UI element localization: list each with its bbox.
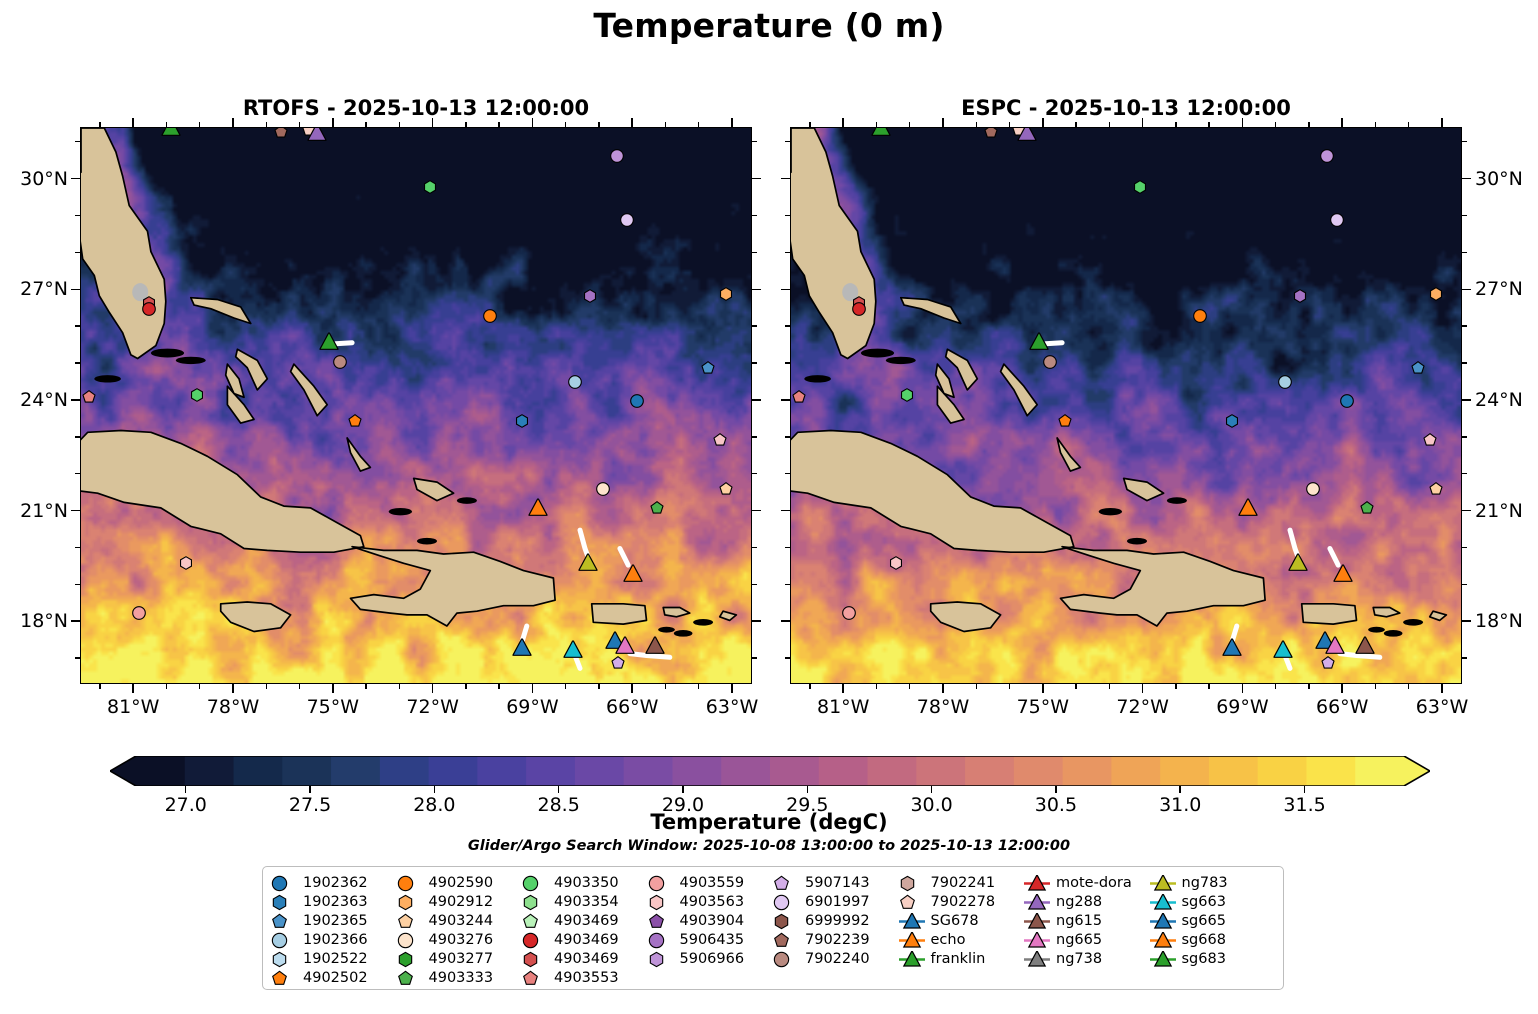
x-tick <box>1341 118 1343 127</box>
map-marker-4903276[interactable] <box>1306 482 1321 501</box>
coastlines-rtofs <box>81 128 752 684</box>
map-marker-echo[interactable] <box>529 498 548 521</box>
x-tick <box>1441 684 1443 693</box>
legend-marker-icon <box>899 913 925 930</box>
x-minor-tick <box>1009 122 1010 127</box>
legend-item-label: sg665 <box>1182 913 1226 930</box>
legend-marker-icon <box>397 913 423 930</box>
x-tick <box>1142 684 1144 693</box>
legend-marker-icon <box>271 951 297 968</box>
map-marker-4902912[interactable] <box>719 286 734 305</box>
y-minor-tick <box>75 436 80 437</box>
x-minor-tick <box>809 122 810 127</box>
colorbar-tick <box>434 786 436 793</box>
x-minor-tick <box>1175 122 1176 127</box>
legend-item-label: 5906966 <box>680 951 745 968</box>
x-tick <box>1441 118 1443 127</box>
y-tick <box>752 510 761 512</box>
legend-item-mote-dora[interactable]: mote-dora <box>1024 874 1150 893</box>
x-tick <box>1142 118 1144 127</box>
legend-item-label: 4903469 <box>554 932 619 949</box>
map-marker-franklin[interactable] <box>871 127 890 141</box>
x-minor-tick <box>1208 122 1209 127</box>
x-tick-label: 63°W <box>706 696 758 718</box>
y-minor-tick <box>75 141 80 142</box>
legend-item-label: 5907143 <box>805 875 870 892</box>
x-minor-tick <box>399 122 400 127</box>
legend-item-sg665[interactable]: sg665 <box>1150 912 1276 931</box>
map-marker-7902240[interactable] <box>1043 355 1058 374</box>
legend-marker-icon <box>648 875 674 892</box>
legend-item-6999992[interactable]: 6999992 <box>773 912 899 931</box>
legend-item-label: 4902912 <box>429 894 494 911</box>
legend-item-label: 4903469 <box>554 913 619 930</box>
y-tick <box>781 620 790 622</box>
legend-item-label: 4903350 <box>554 875 619 892</box>
y-minor-tick <box>785 362 790 363</box>
map-marker-7902239[interactable] <box>273 127 288 143</box>
legend-item-SG678[interactable]: SG678 <box>899 912 1025 931</box>
legend-item-7902241[interactable]: 7902241 <box>899 874 1025 893</box>
y-tick <box>71 178 80 180</box>
map-marker-4902590[interactable] <box>1193 308 1208 327</box>
colorbar-tick <box>807 786 809 793</box>
map-marker-sg683[interactable] <box>319 332 338 355</box>
legend-item-4903904[interactable]: 4903904 <box>648 912 774 931</box>
y-minor-tick <box>1462 436 1467 437</box>
x-minor-tick <box>598 684 599 689</box>
legend-item-label: 6901997 <box>805 894 870 911</box>
map-marker-5907143[interactable] <box>611 655 626 674</box>
x-minor-tick <box>1208 684 1209 689</box>
y-tick <box>752 399 761 401</box>
legend-item-7902240[interactable]: 7902240 <box>773 950 899 969</box>
legend-marker-icon <box>397 894 423 911</box>
y-minor-tick <box>75 215 80 216</box>
legend-item-label: ng738 <box>1056 951 1102 968</box>
legend-item-4903276[interactable]: 4903276 <box>397 931 523 950</box>
colorbar-tick <box>1179 786 1181 793</box>
x-tick <box>842 684 844 693</box>
map-marker-4903354[interactable] <box>649 500 664 519</box>
x-minor-tick <box>976 122 977 127</box>
legend-item-label: ng665 <box>1056 932 1102 949</box>
x-minor-tick <box>1075 684 1076 689</box>
legend-item-sg683[interactable]: sg683 <box>1150 950 1276 969</box>
legend-item-5906966[interactable]: 5906966 <box>648 950 774 969</box>
legend-item-label: echo <box>931 932 966 949</box>
map-marker-sg663[interactable] <box>564 640 583 663</box>
x-minor-tick <box>598 122 599 127</box>
legend-item-1902362[interactable]: 1902362 <box>271 874 397 893</box>
x-tick-label: 78°W <box>207 696 259 718</box>
map-panel-rtofs[interactable] <box>80 127 752 684</box>
map-marker-4903469b[interactable] <box>142 301 157 320</box>
legend-marker-icon <box>1024 932 1050 949</box>
x-minor-tick <box>166 122 167 127</box>
legend-item-label: 7902241 <box>931 875 996 892</box>
map-marker-5906435[interactable] <box>582 288 597 307</box>
x-tick-label: 72°W <box>406 696 458 718</box>
map-marker-4902502[interactable] <box>348 414 363 433</box>
map-marker-4903563b[interactable] <box>712 432 727 451</box>
x-minor-tick <box>698 122 699 127</box>
legend-item-4903350[interactable]: 4903350 <box>522 874 648 893</box>
legend-item-1902522[interactable]: 1902522 <box>271 950 397 969</box>
y-minor-tick <box>752 473 757 474</box>
x-tick <box>1341 684 1343 693</box>
y-minor-tick <box>785 473 790 474</box>
legend-item-label: ng615 <box>1056 913 1102 930</box>
x-minor-tick <box>465 684 466 689</box>
y-minor-tick <box>752 215 757 216</box>
legend-item-1902365[interactable]: 1902365 <box>271 912 397 931</box>
map-marker-4903276[interactable] <box>596 482 611 501</box>
y-tick <box>781 289 790 291</box>
legend-marker-icon <box>648 932 674 949</box>
x-tick <box>332 684 334 693</box>
x-minor-tick <box>1308 122 1309 127</box>
legend-marker-icon <box>1024 913 1050 930</box>
x-tick <box>432 118 434 127</box>
map-marker-sg683[interactable] <box>1029 332 1048 355</box>
x-minor-tick <box>1375 684 1376 689</box>
legend-item-label: 4903277 <box>429 951 494 968</box>
map-marker-1902363[interactable] <box>514 414 529 433</box>
map-marker-4902590[interactable] <box>483 308 498 327</box>
legend-item-5907143[interactable]: 5907143 <box>773 874 899 893</box>
map-marker-4903563[interactable] <box>888 556 903 575</box>
x-minor-tick <box>365 122 366 127</box>
map-marker-sg663[interactable] <box>1274 640 1293 663</box>
map-marker-4903559[interactable] <box>842 605 857 624</box>
y-tick <box>71 620 80 622</box>
y-minor-tick <box>752 141 757 142</box>
y-minor-tick <box>1462 252 1467 253</box>
colorbar[interactable]: 27.027.528.028.529.029.530.030.531.031.5 <box>110 756 1430 786</box>
x-tick <box>132 684 134 693</box>
legend-item-4902590[interactable]: 4902590 <box>397 874 523 893</box>
legend-item-1902366[interactable]: 1902366 <box>271 931 397 950</box>
map-marker-5906966[interactable] <box>609 148 624 167</box>
map-marker-6901997[interactable] <box>619 213 634 232</box>
y-tick <box>1462 178 1471 180</box>
y-tick <box>752 620 761 622</box>
y-minor-tick <box>785 584 790 585</box>
legend-item-4902912[interactable]: 4902912 <box>397 893 523 912</box>
x-minor-tick <box>909 122 910 127</box>
legend-marker-icon <box>773 894 799 911</box>
legend-marker-icon <box>1024 894 1050 911</box>
map-marker-4903563[interactable] <box>178 556 193 575</box>
x-minor-tick <box>365 684 366 689</box>
y-minor-tick <box>785 141 790 142</box>
map-marker-ng288[interactable] <box>308 127 327 147</box>
map-marker-1902362[interactable] <box>1339 393 1354 412</box>
map-marker-7902239[interactable] <box>983 127 998 143</box>
legend-item-label: 1902362 <box>303 875 368 892</box>
map-marker-4903559[interactable] <box>132 605 147 624</box>
y-minor-tick <box>75 325 80 326</box>
map-marker-4903244[interactable] <box>1429 482 1444 501</box>
x-minor-tick <box>1009 684 1010 689</box>
legend-marker-icon <box>773 913 799 930</box>
x-tick <box>232 684 234 693</box>
map-marker-6901997[interactable] <box>1329 213 1344 232</box>
legend-item-4903277[interactable]: 4903277 <box>397 950 523 969</box>
legend-item-label: 4903276 <box>429 932 494 949</box>
map-marker-franklin[interactable] <box>161 127 180 141</box>
legend-item-label: 6999992 <box>805 913 870 930</box>
legend-marker-icon <box>773 951 799 968</box>
y-tick <box>781 178 790 180</box>
map-marker-4903553[interactable] <box>792 390 807 409</box>
y-minor-tick <box>752 436 757 437</box>
legend-item-4903553[interactable]: 4903553 <box>522 969 648 988</box>
legend-marker-icon <box>397 951 423 968</box>
map-marker-5906966[interactable] <box>1319 148 1334 167</box>
legend-item-echo[interactable]: echo <box>899 931 1025 950</box>
legend-marker-icon <box>522 970 548 987</box>
map-marker-7902240[interactable] <box>333 355 348 374</box>
map-marker-sg665[interactable] <box>512 638 531 661</box>
legend-item-ng783[interactable]: ng783 <box>1150 874 1276 893</box>
legend-item-7902278[interactable]: 7902278 <box>899 893 1025 912</box>
map-marker-4902912[interactable] <box>1429 286 1444 305</box>
legend-marker-icon <box>1150 894 1176 911</box>
y-minor-tick <box>785 325 790 326</box>
map-marker-ng783[interactable] <box>579 554 598 577</box>
legend-item-label: 7902239 <box>805 932 870 949</box>
legend-item-label: 4902590 <box>429 875 494 892</box>
legend-item-4903333[interactable]: 4903333 <box>397 969 523 988</box>
map-marker-1902365[interactable] <box>1411 360 1426 379</box>
x-minor-tick <box>909 684 910 689</box>
y-tick-label-right: 21°N <box>1475 500 1523 522</box>
legend-item-ng665[interactable]: ng665 <box>1024 931 1150 950</box>
legend-box: 1902362490259049033504903559590714379022… <box>262 866 1284 990</box>
y-minor-tick <box>752 547 757 548</box>
x-minor-tick <box>1109 684 1110 689</box>
map-marker-5906435[interactable] <box>1292 288 1307 307</box>
map-marker-5907143[interactable] <box>1321 655 1336 674</box>
coastlines-espc <box>791 128 1462 684</box>
y-minor-tick <box>1462 362 1467 363</box>
legend-marker-icon <box>1024 875 1050 892</box>
legend-item-4903354[interactable]: 4903354 <box>522 893 648 912</box>
x-minor-tick <box>809 684 810 689</box>
y-minor-tick <box>1462 473 1467 474</box>
legend-marker-icon <box>522 913 548 930</box>
map-marker-sg668[interactable] <box>1334 565 1353 588</box>
y-minor-tick <box>1462 141 1467 142</box>
x-tick <box>631 684 633 693</box>
legend-item-5906435[interactable]: 5906435 <box>648 931 774 950</box>
legend-item-label: 4903244 <box>429 913 494 930</box>
y-minor-tick <box>785 436 790 437</box>
map-marker-4903553[interactable] <box>82 390 97 409</box>
y-tick <box>1462 399 1471 401</box>
x-tick-label: 69°W <box>506 696 558 718</box>
legend-item-label: 7902240 <box>805 951 870 968</box>
map-marker-1902365[interactable] <box>701 360 716 379</box>
legend-item-ng615[interactable]: ng615 <box>1024 912 1150 931</box>
x-tick-label: 81°W <box>107 696 159 718</box>
legend-marker-icon <box>1150 932 1176 949</box>
colorbar-tick <box>558 786 560 793</box>
legend-item-label: 1902363 <box>303 894 368 911</box>
map-marker-echo[interactable] <box>1239 498 1258 521</box>
y-tick-label-right: 27°N <box>1475 278 1523 300</box>
x-tick-label: 72°W <box>1116 696 1168 718</box>
x-minor-tick <box>665 122 666 127</box>
y-minor-tick <box>75 473 80 474</box>
y-minor-tick <box>75 252 80 253</box>
legend-item-label: sg663 <box>1182 894 1226 911</box>
y-tick-label-left: 27°N <box>0 278 68 300</box>
y-minor-tick <box>752 584 757 585</box>
legend-grid: 1902362490259049033504903559590714379022… <box>271 874 1275 988</box>
legend-item-franklin[interactable]: franklin <box>899 950 1025 969</box>
legend-item-sg663[interactable]: sg663 <box>1150 893 1276 912</box>
x-tick <box>432 684 434 693</box>
map-marker-4903350[interactable] <box>423 179 438 198</box>
legend-item-7902239[interactable]: 7902239 <box>773 931 899 950</box>
legend-marker-icon <box>899 932 925 949</box>
x-tick <box>942 684 944 693</box>
legend-item-1902363[interactable]: 1902363 <box>271 893 397 912</box>
x-tick <box>631 118 633 127</box>
legend-marker-icon <box>648 951 674 968</box>
y-minor-tick <box>75 547 80 548</box>
y-minor-tick <box>1462 657 1467 658</box>
panel-title-espc: ESPC - 2025-10-13 12:00:00 <box>790 96 1462 120</box>
map-marker-1902362[interactable] <box>629 393 644 412</box>
map-marker-4903469b[interactable] <box>852 301 867 320</box>
y-tick <box>781 510 790 512</box>
y-tick <box>752 289 761 291</box>
legend-marker-icon <box>899 875 925 892</box>
x-minor-tick <box>565 684 566 689</box>
legend-item-label: sg683 <box>1182 951 1226 968</box>
y-minor-tick <box>785 657 790 658</box>
legend-item-4903469[interactable]: 4903469 <box>522 912 648 931</box>
map-marker-4903350b[interactable] <box>900 388 915 407</box>
legend-item-4903559[interactable]: 4903559 <box>648 874 774 893</box>
map-marker-1902366[interactable] <box>568 375 583 394</box>
map-marker-ng783[interactable] <box>1289 554 1308 577</box>
legend-item-ng738[interactable]: ng738 <box>1024 950 1150 969</box>
map-marker-ng615[interactable] <box>645 637 664 660</box>
legend-item-label: 4903904 <box>680 913 745 930</box>
legend-item-label: 4903333 <box>429 970 494 987</box>
legend-marker-icon <box>1150 951 1176 968</box>
map-marker-1902363[interactable] <box>1224 414 1239 433</box>
x-tick-label: 78°W <box>917 696 969 718</box>
map-marker-4903563b[interactable] <box>1422 432 1437 451</box>
x-tick <box>731 118 733 127</box>
legend-marker-icon <box>271 913 297 930</box>
x-minor-tick <box>1308 684 1309 689</box>
legend-marker-icon <box>397 970 423 987</box>
map-marker-ng288[interactable] <box>1018 127 1037 147</box>
legend-item-label: mote-dora <box>1056 875 1132 892</box>
map-marker-1902366[interactable] <box>1278 375 1293 394</box>
x-minor-tick <box>99 122 100 127</box>
y-minor-tick <box>752 325 757 326</box>
map-marker-4903350b[interactable] <box>190 388 205 407</box>
legend-marker-icon <box>522 894 548 911</box>
legend-item-6901997[interactable]: 6901997 <box>773 893 899 912</box>
legend-item-4903469[interactable]: 4903469 <box>522 950 648 969</box>
legend-marker-icon <box>899 894 925 911</box>
x-tick-label: 75°W <box>307 696 359 718</box>
legend-marker-icon <box>1150 913 1176 930</box>
y-tick-label-right: 30°N <box>1475 168 1523 190</box>
colorbar-tick <box>185 786 187 793</box>
y-tick <box>752 178 761 180</box>
y-minor-tick <box>1462 547 1467 548</box>
legend-marker-icon <box>522 951 548 968</box>
x-minor-tick <box>1075 122 1076 127</box>
legend-marker-icon <box>773 875 799 892</box>
x-minor-tick <box>199 122 200 127</box>
map-marker-4903354[interactable] <box>1359 500 1374 519</box>
legend-item-label: ng288 <box>1056 894 1102 911</box>
legend-item-label: 7902278 <box>931 894 996 911</box>
map-marker-sg668[interactable] <box>624 565 643 588</box>
y-tick-label-right: 18°N <box>1475 610 1523 632</box>
x-tick <box>1042 684 1044 693</box>
y-minor-tick <box>1462 215 1467 216</box>
map-marker-4903244[interactable] <box>719 482 734 501</box>
legend-item-label: ng783 <box>1182 875 1228 892</box>
x-minor-tick <box>299 684 300 689</box>
y-minor-tick <box>1462 584 1467 585</box>
legend-item-4903563[interactable]: 4903563 <box>648 893 774 912</box>
legend-item-label: 1902522 <box>303 951 368 968</box>
x-minor-tick <box>1375 122 1376 127</box>
map-marker-sg665[interactable] <box>1222 638 1241 661</box>
legend-item-label: 4902502 <box>303 970 368 987</box>
search-window-text: Glider/Argo Search Window: 2025-10-08 13… <box>0 838 1538 854</box>
x-minor-tick <box>99 684 100 689</box>
legend-item-sg668[interactable]: sg668 <box>1150 931 1276 950</box>
legend-item-ng288[interactable]: ng288 <box>1024 893 1150 912</box>
legend-marker-icon <box>271 970 297 987</box>
legend-item-4903244[interactable]: 4903244 <box>397 912 523 931</box>
colorbar-tick <box>1304 786 1306 793</box>
legend-marker-icon <box>271 875 297 892</box>
x-minor-tick <box>498 684 499 689</box>
map-panel-espc[interactable] <box>790 127 1462 684</box>
x-tick-label: 66°W <box>606 696 658 718</box>
legend-item-4902502[interactable]: 4902502 <box>271 969 397 988</box>
x-minor-tick <box>399 684 400 689</box>
x-tick-label: 81°W <box>817 696 869 718</box>
legend-marker-icon <box>397 875 423 892</box>
map-marker-ng615[interactable] <box>1355 637 1374 660</box>
legend-marker-icon <box>648 913 674 930</box>
y-minor-tick <box>785 252 790 253</box>
legend-item-4903469[interactable]: 4903469 <box>522 931 648 950</box>
map-marker-4903350[interactable] <box>1133 179 1148 198</box>
map-marker-4902502[interactable] <box>1058 414 1073 433</box>
x-minor-tick <box>1109 122 1110 127</box>
glider-track <box>1330 549 1338 566</box>
x-tick <box>332 118 334 127</box>
x-tick <box>731 684 733 693</box>
